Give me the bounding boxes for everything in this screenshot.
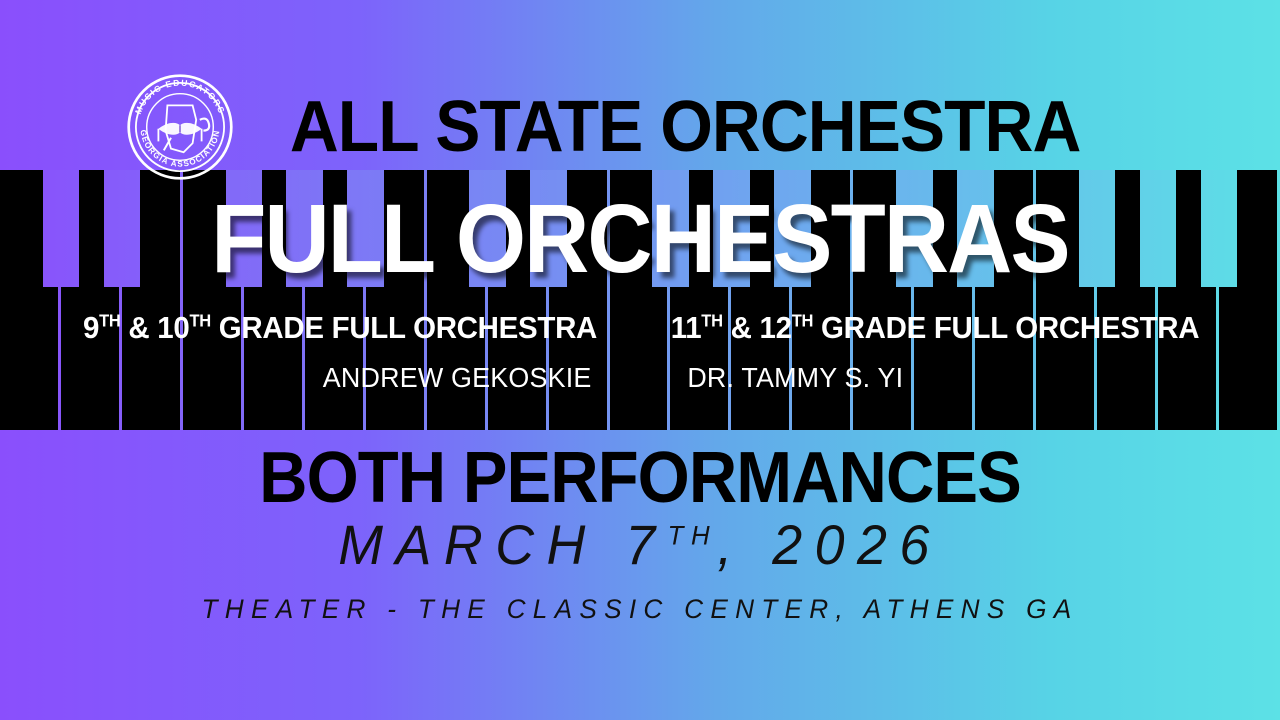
page-subtitle: FULL ORCHESTRAS [45,183,1235,295]
ensemble-2-grade-second: & 12 [723,310,792,345]
event-date-ordinal: TH [668,520,718,550]
ensemble-1-ordinal-second: TH [189,311,210,331]
ensemble-2-grades: 11TH & 12TH GRADE FULL ORCHESTRA [669,310,1201,346]
event-date-monthday: MARCH 7 [338,513,667,576]
ensemble-1-ordinal-first: TH [99,311,120,331]
ensemble-1-grades: 9TH & 10TH GRADE FULL ORCHESTRA [74,310,606,346]
gmea-logo: MUSIC EDUCATORS GEORGIA ASSOCIATION [126,72,234,182]
ensemble-2-ordinal-second: TH [792,311,813,331]
both-performances-label: BOTH PERFORMANCES [45,437,1235,519]
ensemble-1-conductor: ANDREW GEKOSKIE [71,362,609,394]
ensemble-1-grade-first: 9 [83,310,99,345]
ensemble-2-grade-first: 11 [671,310,702,345]
event-venue: THEATER - THE CLASSIC CENTER, ATHENS GA [19,594,1261,625]
ensemble-2-ordinal-first: TH [701,311,722,331]
ensemble-1-grade-suffix: GRADE FULL ORCHESTRA [211,310,597,345]
ensemble-2-grade-suffix: GRADE FULL ORCHESTRA [813,310,1199,345]
event-date-year: , 2026 [717,513,941,576]
svg-text:GEORGIA ASSOCIATION: GEORGIA ASSOCIATION [138,129,221,169]
event-date: MARCH 7TH, 2026 [26,512,1255,577]
ensemble-2-conductor: DR. TAMMY S. YI [666,362,1204,394]
ensemble-1-grade-second: & 10 [120,310,189,345]
svg-text:MUSIC EDUCATORS: MUSIC EDUCATORS [133,77,227,115]
